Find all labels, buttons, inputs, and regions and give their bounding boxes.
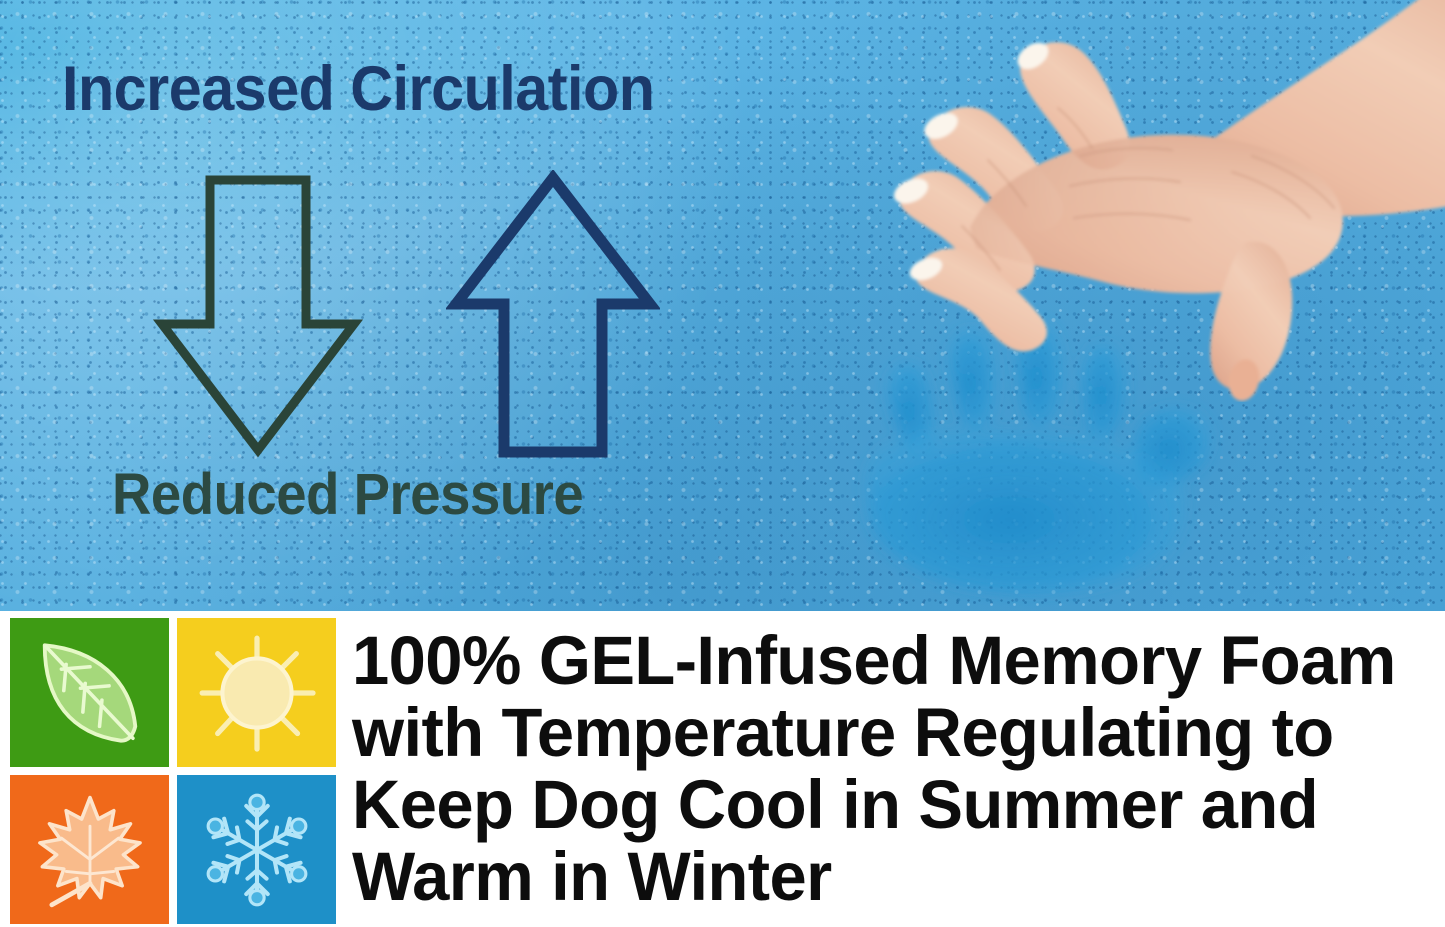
- snowflake-icon: [193, 790, 320, 909]
- gel-foam-photo-panel: Increased Circulation Reduced Pressure: [0, 0, 1445, 611]
- increased-circulation-arrow: [446, 170, 660, 460]
- season-tile-autumn: [10, 775, 169, 924]
- maple-leaf-icon: [26, 790, 153, 909]
- feature-copy-panel: 100% GEL-Infused Memory Foam with Temper…: [0, 611, 1445, 927]
- four-seasons-icon-grid: [10, 618, 336, 923]
- leaf-icon: [26, 633, 153, 752]
- sun-icon: [193, 633, 320, 752]
- hand-on-foam: [812, 0, 1445, 402]
- season-tile-spring: [10, 618, 169, 767]
- product-feature-graphic: Increased Circulation Reduced Pressure: [0, 0, 1445, 927]
- reduced-pressure-arrow: [148, 172, 368, 458]
- season-tile-summer: [177, 618, 336, 767]
- reduced-pressure-label: Reduced Pressure: [112, 466, 583, 524]
- copy-line-1: 100% GEL-Infused Memory Foam: [352, 625, 1409, 697]
- increased-circulation-label: Increased Circulation: [62, 58, 654, 121]
- season-tile-winter: [177, 775, 336, 924]
- copy-line-3: Keep Dog Cool in Summer and: [352, 769, 1409, 841]
- copy-line-4: Warm in Winter: [352, 841, 1409, 913]
- feature-copy-block: 100% GEL-Infused Memory Foam with Temper…: [352, 625, 1442, 913]
- copy-line-2: with Temperature Regulating to: [352, 697, 1409, 769]
